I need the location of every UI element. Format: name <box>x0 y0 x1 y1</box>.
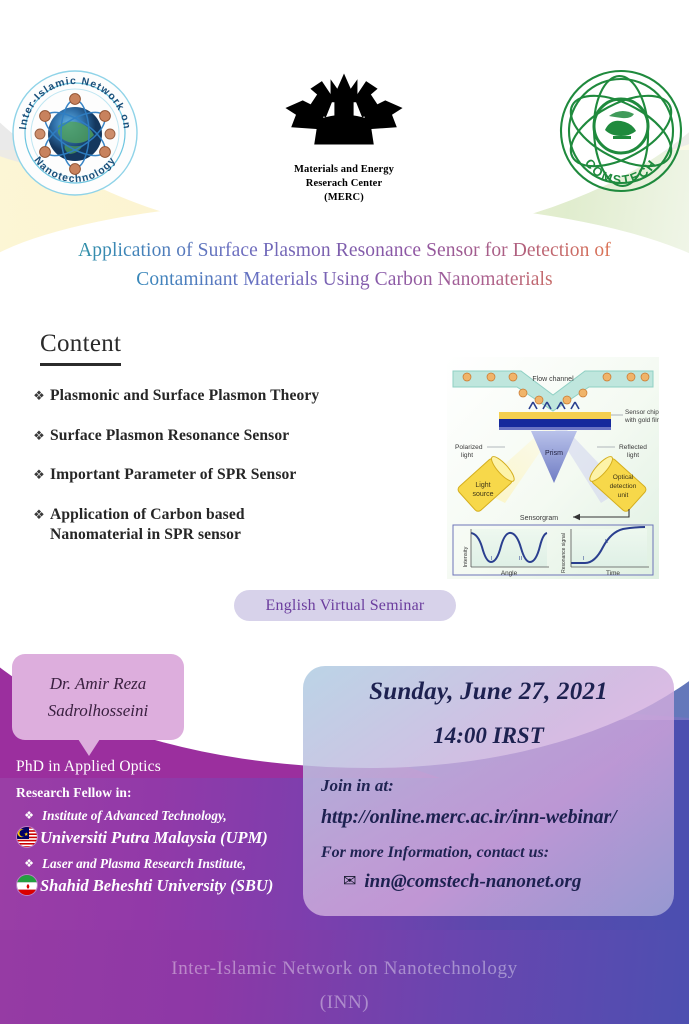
envelope-icon: ✉ <box>343 874 356 890</box>
contact-email[interactable]: inn@comstech-nanonet.org <box>364 871 581 893</box>
spr-flow-channel-label: Flow channel <box>532 376 574 383</box>
speaker-credentials: PhD in Applied Optics Research Fellow in… <box>16 758 316 903</box>
event-time: 14:00 IRST <box>303 723 674 749</box>
svg-text:light: light <box>627 452 639 459</box>
spr-plot-left-xlabel: Angle <box>501 570 518 577</box>
content-heading: Content <box>40 330 121 366</box>
merc-logo: Materials and Energy Reserach Center (ME… <box>258 60 430 195</box>
svg-text:I: I <box>583 556 585 562</box>
svg-text:detection: detection <box>610 483 637 490</box>
footer-line-1: Inter-Islamic Network on Nanotechnology <box>0 952 689 986</box>
content-item-label: Application of Carbon based Nanomaterial… <box>50 505 245 546</box>
footer-line-2: (INN) <box>0 986 689 1020</box>
research-fellow-label: Research Fellow in: <box>16 785 316 801</box>
spr-prism-label: Prism <box>545 450 563 457</box>
list-item: ❖ Important Parameter of SPR Sensor <box>28 465 448 486</box>
footer: Inter-Islamic Network on Nanotechnology … <box>0 952 689 1020</box>
list-item: ❖ Surface Plasmon Resonance Sensor <box>28 426 448 447</box>
event-date: Sunday, June 27, 2021 <box>303 678 674 706</box>
merc-line-3: (MERC) <box>258 191 430 205</box>
speaker-degree: PhD in Applied Optics <box>16 758 316 776</box>
spr-plot-right-ylabel: Resonance signal <box>561 533 567 573</box>
list-item: ❖ Plasmonic and Surface Plasmon Theory <box>28 386 448 407</box>
diamond-bullet-icon: ❖ <box>16 807 42 825</box>
inn-logo: Inter-Islamic Network on Nanotechnology <box>10 68 140 198</box>
spr-light-source-label: Light <box>475 482 490 489</box>
speaker-name-line-1: Dr. Amir Reza <box>50 670 147 697</box>
page-title: Application of Surface Plasmon Resonance… <box>12 236 677 294</box>
diamond-bullet-icon: ❖ <box>28 426 50 446</box>
spr-sensor-chip-label: Sensor chip <box>625 409 659 416</box>
malaysia-flag-icon <box>16 826 38 848</box>
content-list: ❖ Plasmonic and Surface Plasmon Theory ❖… <box>28 386 448 565</box>
affiliation-university: Universiti Putra Malaysia (UPM) <box>40 827 268 848</box>
speaker-name-bubble: Dr. Amir Reza Sadrolhosseini <box>12 654 184 740</box>
seminar-badge: English Virtual Seminar <box>234 590 456 621</box>
affiliation-institute: Institute of Advanced Technology, <box>42 807 227 825</box>
diamond-bullet-icon: ❖ <box>28 386 50 406</box>
iran-flag-icon <box>16 874 38 896</box>
content-item-label: Surface Plasmon Resonance Sensor <box>50 426 289 447</box>
affiliation-institute-row: ❖ Laser and Plasma Research Institute, <box>16 855 316 873</box>
content-item-label: Important Parameter of SPR Sensor <box>50 465 296 486</box>
affiliation-university-row: Universiti Putra Malaysia (UPM) <box>16 826 316 848</box>
merc-line-1: Materials and Energy <box>258 163 430 177</box>
contact-label: For more Information, contact us: <box>321 844 549 862</box>
svg-text:unit: unit <box>618 492 629 499</box>
spr-reflected-label: Reflected <box>619 444 647 451</box>
speaker-name-line-2: Sadrolhosseini <box>48 697 148 724</box>
affiliation-university: Shahid Beheshti University (SBU) <box>40 875 273 896</box>
title-line-1: Application of Surface Plasmon Resonance… <box>12 236 677 265</box>
contact-email-row[interactable]: ✉ inn@comstech-nanonet.org <box>343 871 581 893</box>
webinar-url-link[interactable]: http://online.merc.ac.ir/inn-webinar/ <box>321 806 616 829</box>
spr-sensor-diagram: Flow channel Sensor chip with gold film <box>447 357 659 579</box>
spr-plot-right-xlabel: Time <box>606 570 620 577</box>
spr-optical-unit-label: Optical <box>613 474 634 481</box>
spr-sensorgram-label: Sensorgram <box>520 515 558 522</box>
svg-text:II: II <box>519 556 522 562</box>
diamond-bullet-icon: ❖ <box>28 465 50 485</box>
affiliation-university-row: Shahid Beheshti University (SBU) <box>16 874 316 896</box>
title-line-2: Contaminant Materials Using Carbon Nanom… <box>12 265 677 294</box>
affiliation-institute: Laser and Plasma Research Institute, <box>42 855 246 873</box>
list-item: ❖ Application of Carbon based Nanomateri… <box>28 505 448 546</box>
spr-polarized-label: Polarized <box>455 444 483 451</box>
diamond-bullet-icon: ❖ <box>28 505 50 525</box>
merc-logo-text: Materials and Energy Reserach Center (ME… <box>258 163 430 206</box>
poster-root: Inter-Islamic Network on Nanotechnology <box>0 0 689 1024</box>
event-details-card: Sunday, June 27, 2021 14:00 IRST Join in… <box>303 666 674 916</box>
diamond-bullet-icon: ❖ <box>16 855 42 873</box>
join-label: Join in at: <box>321 776 394 796</box>
svg-text:II: II <box>605 539 608 545</box>
merc-crown-icon <box>259 60 429 156</box>
bubble-tail-icon <box>78 739 100 756</box>
comstech-logo: COMSTECH <box>553 64 689 198</box>
svg-text:light: light <box>461 452 473 459</box>
spr-plot-left-ylabel: Intensity <box>463 546 469 567</box>
content-item-label: Plasmonic and Surface Plasmon Theory <box>50 386 319 407</box>
affiliation-institute-row: ❖ Institute of Advanced Technology, <box>16 807 316 825</box>
svg-text:I: I <box>491 556 493 562</box>
merc-line-2: Reserach Center <box>258 177 430 191</box>
svg-text:source: source <box>472 491 493 498</box>
svg-text:with gold film: with gold film <box>624 417 659 424</box>
